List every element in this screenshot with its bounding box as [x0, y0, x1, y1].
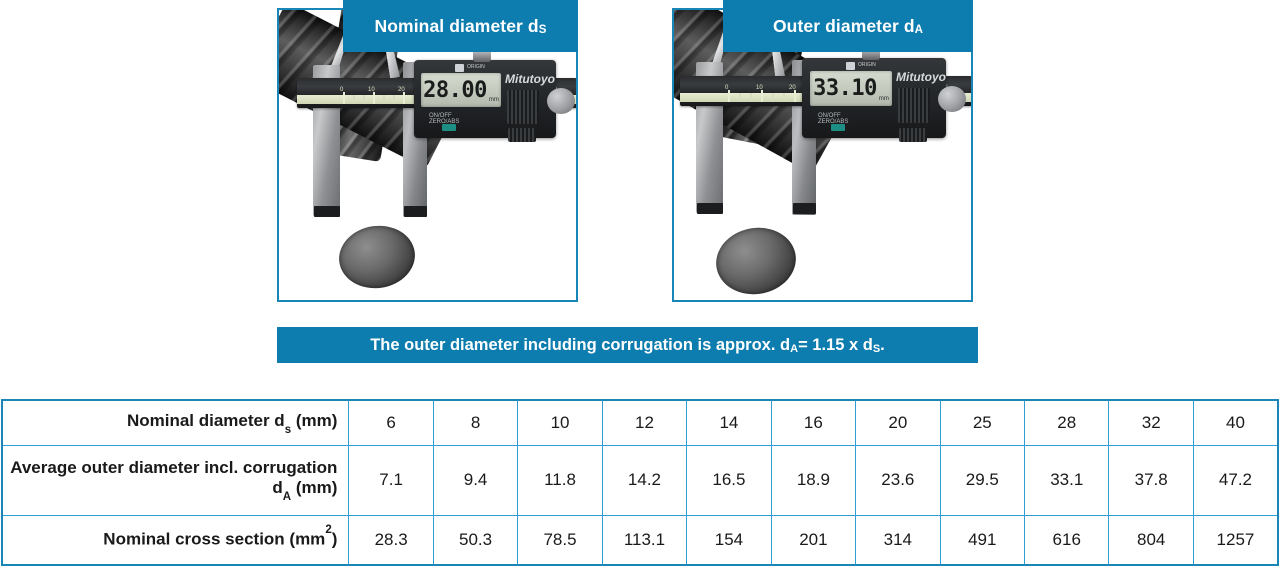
row-label-subscript: s [285, 424, 291, 436]
cell-nominal-9: 32 [1109, 400, 1193, 445]
figure-title-subscript: S [539, 24, 547, 36]
page-root: 0 10 20 30 90 [0, 0, 1280, 569]
scale-tick-label: 0 [340, 87, 343, 93]
figure-title-text: Outer diameter d [773, 16, 915, 37]
cell-area-9: 804 [1109, 515, 1193, 565]
caption-subscript-s: S [873, 343, 880, 355]
caliper-brand-label: Mitutoyo [896, 70, 946, 84]
cell-area-5: 201 [771, 515, 855, 565]
figure-outer-diameter: 0 10 20 30 100 [672, 8, 973, 302]
caliper-origin-label: ORIGIN [858, 62, 876, 68]
caption-part-2: = 1.15 x d [798, 336, 873, 355]
cell-outer-10: 47.2 [1193, 445, 1278, 515]
caption-part-1: The outer diameter including corrugation… [370, 336, 790, 355]
scale-tick-label: 20 [789, 85, 796, 91]
table-row-cross-section: Nominal cross section (mm2) 28.3 50.3 78… [2, 515, 1278, 565]
spec-table-wrapper: Nominal diameter ds (mm) 6 8 10 12 14 16… [1, 399, 1279, 566]
cell-outer-8: 33.1 [1025, 445, 1109, 515]
cell-outer-4: 16.5 [687, 445, 771, 515]
caliper-lcd-display: 33.10 mm [810, 71, 892, 106]
caliper-reading-unit: mm [879, 96, 889, 102]
row-label-cross-section: Nominal cross section (mm2) [2, 515, 349, 565]
row-label-unit: (mm) [291, 478, 337, 497]
cell-area-4: 154 [687, 515, 771, 565]
caliper-movable-jaw-tip [404, 206, 427, 217]
caliper-zero-button[interactable] [831, 124, 845, 131]
caliper-brand-label: Mitutoyo [505, 72, 555, 86]
cell-outer-9: 37.8 [1109, 445, 1193, 515]
caliper-head-knurling [898, 88, 930, 123]
caliper-zero-button[interactable] [442, 124, 456, 131]
cell-outer-6: 23.6 [856, 445, 940, 515]
figure-title-nominal-diameter: Nominal diameter dS [343, 0, 578, 52]
caliper-reading-value: 33.10 [813, 76, 877, 101]
cell-area-8: 616 [1025, 515, 1109, 565]
row-label-unit: ) [332, 530, 338, 549]
cell-nominal-0: 6 [349, 400, 433, 445]
cell-area-1: 50.3 [433, 515, 517, 565]
table-row-nominal-diameter: Nominal diameter ds (mm) 6 8 10 12 14 16… [2, 400, 1278, 445]
caliper-fixed-jaw-tip [314, 206, 340, 217]
caption-part-3: . [880, 336, 885, 355]
caliper-origin-button[interactable] [455, 64, 464, 72]
cell-area-3: 113.1 [602, 515, 686, 565]
figure-title-text: Nominal diameter d [375, 16, 539, 37]
figure-title-outer-diameter: Outer diameter dA [723, 0, 973, 52]
cell-outer-1: 9.4 [433, 445, 517, 515]
table-row-outer-diameter: Average outer diameter incl. corrugation… [2, 445, 1278, 515]
cell-nominal-1: 8 [433, 400, 517, 445]
caliper-depth-thumbwheel[interactable] [938, 86, 966, 112]
row-label-outer-diameter: Average outer diameter incl. corrugation… [2, 445, 349, 515]
caliper-origin-label: ORIGIN [467, 64, 485, 70]
cell-nominal-8: 28 [1025, 400, 1109, 445]
figure-nominal-diameter: 0 10 20 30 90 [277, 8, 578, 302]
scale-tick-label: 20 [398, 87, 405, 93]
cell-outer-3: 14.2 [602, 445, 686, 515]
rebar-cut-end-face [711, 222, 801, 300]
cell-area-2: 78.5 [518, 515, 602, 565]
row-label-subscript: A [283, 491, 291, 503]
row-label-text: Nominal cross section (mm [103, 530, 325, 549]
cell-nominal-2: 10 [518, 400, 602, 445]
cell-nominal-3: 12 [602, 400, 686, 445]
cell-nominal-5: 16 [771, 400, 855, 445]
cell-outer-7: 29.5 [940, 445, 1024, 515]
rebar-cut-end-face [335, 221, 419, 293]
cell-area-7: 491 [940, 515, 1024, 565]
figure-title-subscript: A [915, 24, 923, 36]
cell-area-10: 1257 [1193, 515, 1278, 565]
cell-area-0: 28.3 [349, 515, 433, 565]
row-label-superscript: 2 [325, 524, 331, 536]
scale-tick-label: 10 [756, 85, 763, 91]
cell-nominal-10: 40 [1193, 400, 1278, 445]
caliper-reading-unit: mm [489, 97, 499, 103]
caliper-fixed-jaw-tip [697, 203, 723, 214]
rebar-spec-table: Nominal diameter ds (mm) 6 8 10 12 14 16… [1, 399, 1279, 566]
cell-nominal-4: 14 [687, 400, 771, 445]
caliper-reading-value: 28.00 [423, 78, 487, 103]
photo-outer-diameter: 0 10 20 30 100 [674, 10, 971, 300]
cell-outer-2: 11.8 [518, 445, 602, 515]
row-label-nominal-diameter: Nominal diameter ds (mm) [2, 400, 349, 445]
caliper-movable-jaw-tip [793, 203, 816, 214]
caliper-thumb-roller[interactable] [508, 128, 536, 142]
photo-nominal-diameter: 0 10 20 30 90 [279, 10, 576, 300]
caliper-head-knurling [507, 90, 539, 124]
cell-outer-5: 18.9 [771, 445, 855, 515]
scale-tick-label: 10 [368, 87, 375, 93]
caliper-depth-thumbwheel[interactable] [547, 88, 575, 114]
row-label-text: Nominal diameter d [127, 411, 285, 430]
caliper-thumb-roller[interactable] [899, 128, 927, 142]
formula-caption-bar: The outer diameter including corrugation… [277, 327, 978, 363]
cell-nominal-6: 20 [856, 400, 940, 445]
cell-nominal-7: 25 [940, 400, 1024, 445]
row-label-unit: (mm) [291, 411, 337, 430]
caption-subscript-a: A [790, 343, 798, 355]
caliper-lcd-display: 28.00 mm [421, 73, 501, 107]
cell-area-6: 314 [856, 515, 940, 565]
cell-outer-0: 7.1 [349, 445, 433, 515]
caliper-origin-button[interactable] [846, 62, 855, 70]
scale-tick-label: 0 [725, 85, 728, 91]
